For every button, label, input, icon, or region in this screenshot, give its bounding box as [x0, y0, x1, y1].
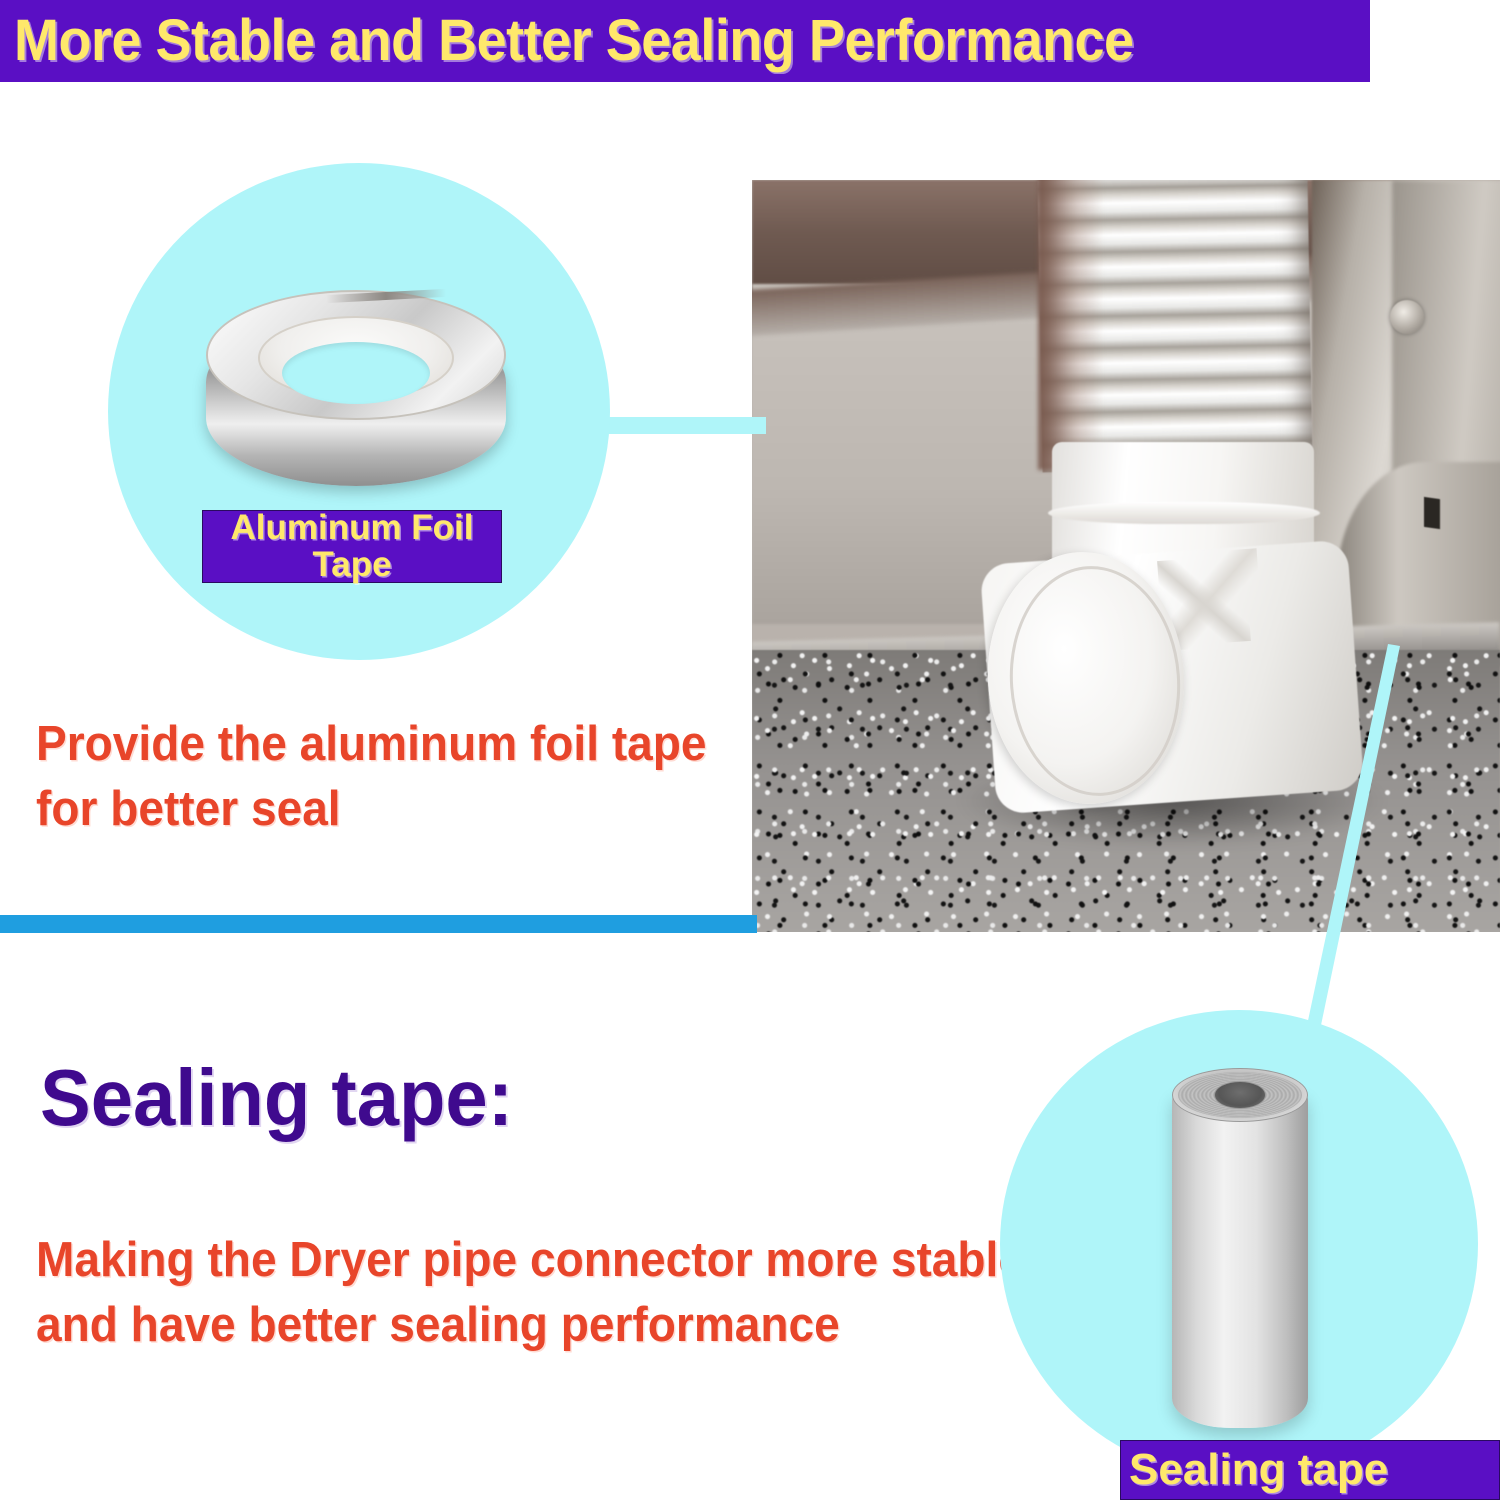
- aluminum-foil-tape-roll-icon: [206, 290, 506, 508]
- photo-foil-duct-shadow: [1038, 180, 1104, 470]
- label-sealing-tape: Sealing tape: [1120, 1440, 1500, 1500]
- sealing-roll-body: [1172, 1092, 1308, 1428]
- label-aluminum-foil-tape: Aluminum Foil Tape: [202, 510, 502, 583]
- photo-content: [752, 180, 1500, 932]
- sealing-tape-roll-icon: [1172, 1068, 1308, 1438]
- label-aluminum-foil-tape-text: Aluminum Foil Tape: [203, 510, 501, 583]
- sealing-tape-heading: Sealing tape:: [40, 1058, 513, 1138]
- sealing-roll-center-hole: [1214, 1081, 1266, 1109]
- page-title: More Stable and Better Sealing Performan…: [14, 12, 1134, 70]
- photo-connector-neck-rim: [1048, 502, 1320, 524]
- infographic-page: More Stable and Better Sealing Performan…: [0, 0, 1500, 1500]
- sealing-description-text: Making the Dryer pipe connector more sta…: [36, 1228, 1032, 1357]
- section-divider: [0, 915, 757, 933]
- dryer-vent-connector-photo: [752, 180, 1500, 932]
- photo-screw: [1390, 300, 1424, 334]
- header-banner: More Stable and Better Sealing Performan…: [0, 0, 1370, 82]
- label-sealing-tape-text: Sealing tape: [1129, 1447, 1388, 1493]
- foil-description-text: Provide the aluminum foil tape for bette…: [36, 712, 750, 841]
- foil-roll-center-hole: [282, 342, 430, 404]
- photo-vent-slot: [1424, 497, 1440, 529]
